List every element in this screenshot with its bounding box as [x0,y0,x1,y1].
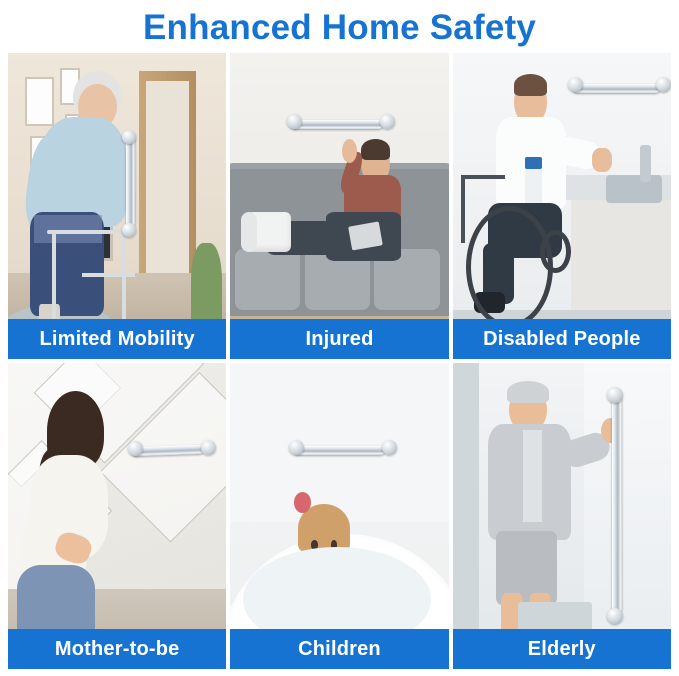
photo-limited-mobility [8,53,226,359]
grab-bar [573,84,660,93]
caption-elderly: Elderly [453,629,671,669]
grid-cell-mother-to-be[interactable]: Mother-to-be [8,363,226,669]
grid-cell-disabled-people[interactable]: Disabled People [453,53,671,359]
photo-elderly [453,363,671,669]
caption-injured: Injured [230,319,448,359]
product-infographic: Enhanced Home Safety [0,0,679,676]
grab-bar [294,446,386,455]
photo-mother-to-be [8,363,226,669]
grab-bar [291,120,383,129]
caption-limited-mobility: Limited Mobility [8,319,226,359]
photo-disabled-people [453,53,671,359]
page-title: Enhanced Home Safety [0,0,679,53]
caption-children: Children [230,629,448,669]
image-grid: Limited Mobility [8,53,671,669]
caption-disabled-people: Disabled People [453,319,671,359]
caption-mother-to-be: Mother-to-be [8,629,226,669]
grid-cell-injured[interactable]: Injured [230,53,448,359]
grab-bar [126,136,135,228]
grid-cell-children[interactable]: Children [230,363,448,669]
photo-injured [230,53,448,359]
grid-cell-elderly[interactable]: Elderly [453,363,671,669]
grid-cell-limited-mobility[interactable]: Limited Mobility [8,53,226,359]
photo-children [230,363,448,669]
grab-bar [612,394,622,614]
